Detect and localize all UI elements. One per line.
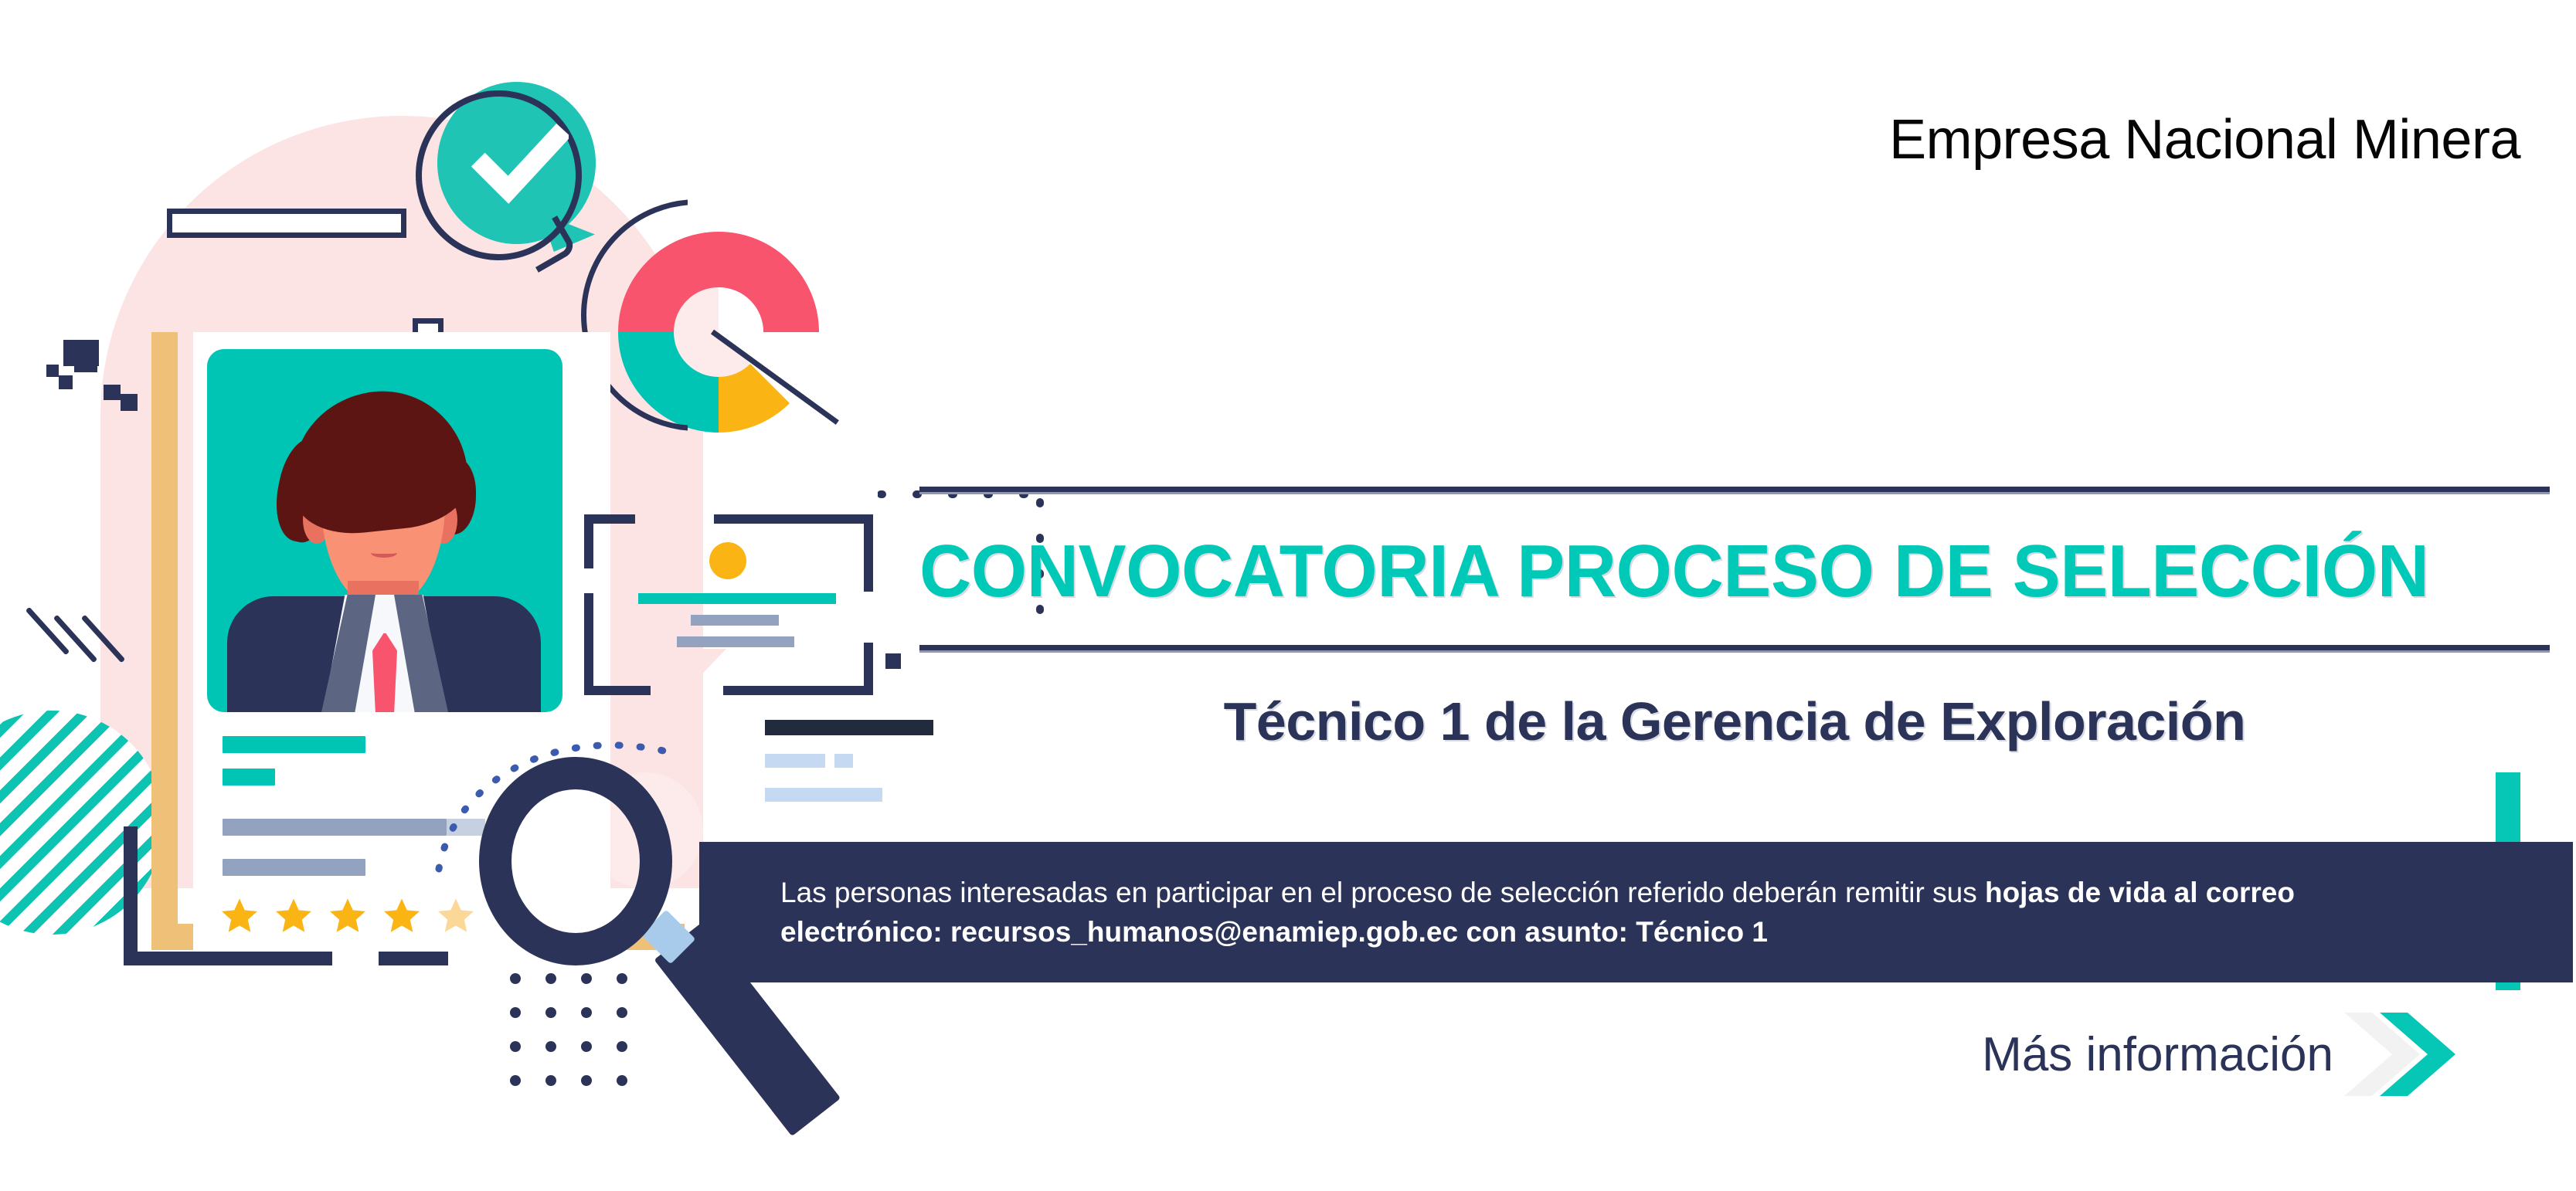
cv-name-bar [223,736,365,753]
title-rule-top [919,487,2550,492]
page-title: CONVOCATORIA PROCESO DE SELECCIÓN [919,529,2501,614]
instructions-text: Las personas interesadas en participar e… [699,873,2469,952]
star-icon [219,896,260,936]
navy-square-3 [46,365,59,377]
star-icon [328,896,368,936]
magnifying-glass-icon [479,757,672,965]
navy-bracket-left [124,826,138,965]
recruitment-illustration [0,0,943,1191]
secondary-card [564,479,889,711]
more-info-link[interactable]: Más información [1982,1008,2468,1101]
title-rule-bottom [919,645,2550,650]
position-subtitle: Técnico 1 de la Gerencia de Exploración [919,691,2550,752]
navy-bracket-bottom [124,952,332,965]
instructions-lead: Las personas interesadas en participar e… [780,877,1985,908]
diagonal-line-1 [25,607,70,656]
star-icon-empty [436,896,476,936]
rating-stars [219,896,476,936]
navy-square-2 [74,354,97,372]
navy-square-6 [121,394,138,411]
outlined-rectangle-shape [167,209,406,238]
check-icon [471,116,569,213]
instructions-banner: Las personas interesadas en participar e… [699,842,2573,982]
cv-text-bar-1 [223,819,447,836]
navy-square-5 [104,385,121,400]
navy-square-4 [59,375,73,389]
dot-grid-decoration [510,973,649,1089]
more-info-label: Más información [1982,1027,2333,1082]
yellow-dot-icon [709,542,746,579]
title-block: CONVOCATORIA PROCESO DE SELECCIÓN Técnic… [919,487,2550,752]
cv-role-bar [223,769,275,786]
poster-canvas: Empresa Nacional Minera CONVOCATORIA PRO… [0,0,2576,1191]
cv-text-bar-2 [223,859,365,876]
chevron-right-icon[interactable] [2336,1008,2468,1101]
star-icon [382,896,422,936]
organization-name: Empresa Nacional Minera [1889,108,2520,171]
navy-dash-bottom [379,952,448,965]
star-icon [274,896,314,936]
person-avatar-icon [207,349,562,712]
